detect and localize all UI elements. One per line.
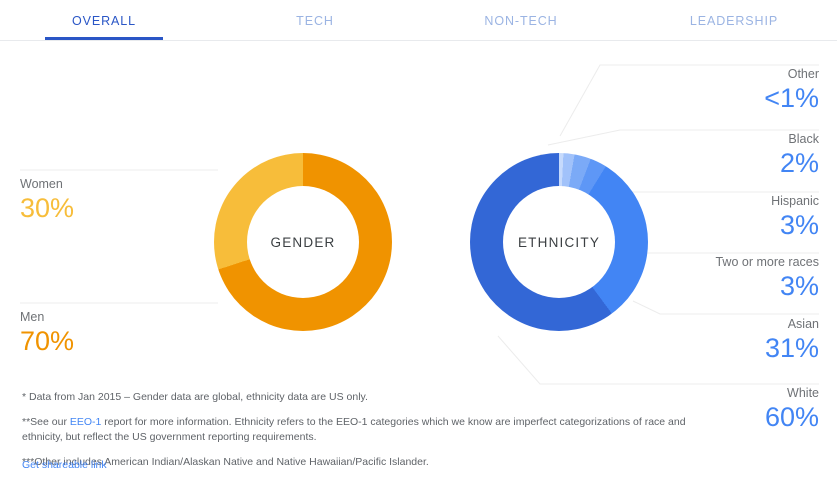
ethnicity-donut-center: ETHNICITY — [503, 186, 615, 298]
tab-non-tech[interactable]: NON-TECH — [460, 0, 582, 41]
footnote-eeo1: **See our EEO-1 report for more informat… — [22, 415, 722, 445]
legend-value-hispanic: 3% — [771, 209, 819, 241]
get-shareable-link[interactable]: Get shareable link — [22, 459, 107, 471]
legend-item-hispanic: Hispanic 3% — [771, 193, 819, 241]
tab-leadership[interactable]: LEADERSHIP — [670, 0, 798, 41]
legend-label-asian: Asian — [765, 316, 819, 332]
footnote-other-definition: ***Other includes American Indian/Alaska… — [22, 455, 722, 470]
legend-label-hispanic: Hispanic — [771, 193, 819, 209]
gender-center-label: GENDER — [271, 235, 336, 250]
legend-label-two-or-more-races: Two or more races — [715, 254, 819, 270]
footnote-eeo1-pre: **See our — [22, 416, 70, 428]
legend-value-women: 30% — [20, 192, 74, 224]
legend-item-women: Women 30% — [20, 176, 74, 224]
footnote-data-source: * Data from Jan 2015 – Gender data are g… — [22, 390, 722, 405]
legend-value-two-or-more-races: 3% — [715, 270, 819, 302]
legend-item-men: Men 70% — [20, 309, 74, 357]
tab-tech[interactable]: TECH — [256, 0, 374, 41]
legend-label-other: Other — [764, 66, 819, 82]
chart-stage: GENDER ETHNICITY Women 30% Men 70% Other… — [0, 41, 837, 388]
legend-item-asian: Asian 31% — [765, 316, 819, 364]
ethnicity-donut-chart: ETHNICITY — [470, 153, 648, 331]
legend-item-white: White 60% — [765, 385, 819, 433]
legend-item-other: Other <1% — [764, 66, 819, 114]
legend-value-men: 70% — [20, 325, 74, 357]
eeo1-link[interactable]: EEO-1 — [70, 416, 102, 428]
tab-overall[interactable]: OVERALL — [45, 0, 163, 41]
legend-item-two-or-more-races: Two or more races 3% — [715, 254, 819, 302]
leader-lines — [0, 41, 837, 388]
legend-item-black: Black 2% — [780, 131, 819, 179]
footnote-eeo1-post: report for more information. Ethnicity r… — [22, 416, 686, 443]
gender-donut-chart: GENDER — [214, 153, 392, 331]
tab-bar: OVERALL TECH NON-TECH LEADERSHIP — [0, 0, 837, 41]
footnotes: * Data from Jan 2015 – Gender data are g… — [22, 390, 722, 480]
legend-value-other: <1% — [764, 82, 819, 114]
legend-label-men: Men — [20, 309, 74, 325]
legend-label-black: Black — [780, 131, 819, 147]
legend-label-women: Women — [20, 176, 74, 192]
gender-donut-center: GENDER — [247, 186, 359, 298]
legend-value-black: 2% — [780, 147, 819, 179]
ethnicity-center-label: ETHNICITY — [518, 235, 600, 250]
legend-value-asian: 31% — [765, 332, 819, 364]
legend-label-white: White — [765, 385, 819, 401]
legend-value-white: 60% — [765, 401, 819, 433]
